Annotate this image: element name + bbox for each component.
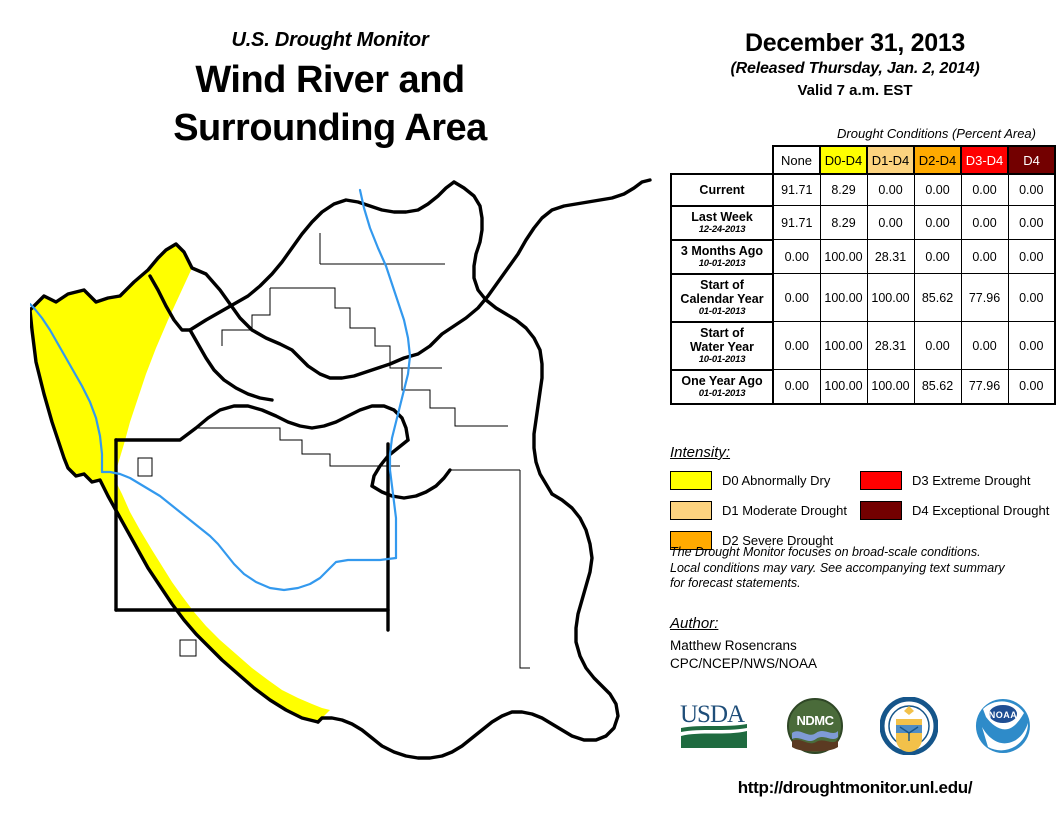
table-cell: 0.00: [867, 206, 914, 240]
table-cell: 100.00: [867, 274, 914, 322]
table-row: Current91.718.290.000.000.000.00: [671, 174, 1055, 206]
table-cell: 100.00: [820, 370, 867, 404]
table-col-header-none: None: [773, 146, 820, 174]
legend-label-d1: D1 Moderate Drought: [722, 503, 847, 518]
right-panel: December 31, 2013 (Released Thursday, Ja…: [660, 0, 1056, 816]
disclaimer-line: for forecast statements.: [670, 576, 1040, 592]
table-row: Last Week12-24-201391.718.290.000.000.00…: [671, 206, 1055, 240]
program-title: U.S. Drought Monitor: [0, 28, 660, 52]
legend-label-d0: D0 Abnormally Dry: [722, 473, 830, 488]
row-label: Start ofWater Year10-01-2013: [671, 322, 773, 370]
table-header: NoneD0-D4D1-D4D2-D4D3-D4D4: [671, 146, 1055, 174]
row-label: Current: [671, 174, 773, 206]
row-label-date: 12-24-2013: [674, 224, 770, 236]
valid-time: Valid 7 a.m. EST: [660, 80, 1050, 101]
legend-item-d1: D1 Moderate Drought: [670, 498, 847, 522]
table-cell: 85.62: [914, 370, 961, 404]
usda-logo: USDA: [678, 698, 750, 759]
svg-text:NOAA: NOAA: [989, 710, 1018, 720]
site-url[interactable]: http://droughtmonitor.unl.edu/: [660, 778, 1050, 798]
table-cell: 0.00: [961, 240, 1008, 274]
map-county-lines: [138, 233, 530, 668]
author-name: Matthew Rosencrans: [670, 637, 817, 655]
legend-swatch-d4: [860, 501, 902, 520]
table-cell: 100.00: [867, 370, 914, 404]
legend-column-right: D3 Extreme DroughtD4 Exceptional Drought: [860, 468, 1049, 528]
legend-item-d0: D0 Abnormally Dry: [670, 468, 847, 492]
row-label-date: 10-01-2013: [674, 354, 770, 366]
table-corner-cell: [671, 146, 773, 174]
table-col-header-d0-d4: D0-D4: [820, 146, 867, 174]
table-body: Current91.718.290.000.000.000.00Last Wee…: [671, 174, 1055, 404]
legend-swatch-d3: [860, 471, 902, 490]
logo-strip: USDA NDMC: [660, 692, 1050, 764]
row-label: 3 Months Ago10-01-2013: [671, 240, 773, 274]
row-label: Last Week12-24-2013: [671, 206, 773, 240]
row-label-date: 01-01-2013: [674, 306, 770, 318]
table-cell: 85.62: [914, 274, 961, 322]
table-cell: 0.00: [1008, 240, 1055, 274]
table-cell: 77.96: [961, 370, 1008, 404]
table-cell: 0.00: [914, 240, 961, 274]
table-header-row: NoneD0-D4D1-D4D2-D4D3-D4D4: [671, 146, 1055, 174]
table-cell: 0.00: [867, 174, 914, 206]
table-cell: 100.00: [820, 322, 867, 370]
table-cell: 0.00: [1008, 174, 1055, 206]
legend-swatch-d0: [670, 471, 712, 490]
legend-label-d4: D4 Exceptional Drought: [912, 503, 1049, 518]
disclaimer-line: Local conditions may vary. See accompany…: [670, 561, 1040, 577]
table-cell: 0.00: [773, 274, 820, 322]
table-cell: 0.00: [1008, 206, 1055, 240]
table-cell: 8.29: [820, 174, 867, 206]
row-label: One Year Ago01-01-2013: [671, 370, 773, 404]
row-label-date: 10-01-2013: [674, 258, 770, 270]
table-cell: 0.00: [1008, 274, 1055, 322]
legend-swatch-d1: [670, 501, 712, 520]
issue-date: December 31, 2013: [660, 28, 1050, 58]
table-cell: 0.00: [773, 240, 820, 274]
release-note: (Released Thursday, Jan. 2, 2014): [660, 58, 1050, 79]
region-title-line1: Wind River and: [0, 56, 660, 104]
table-col-header-d4: D4: [1008, 146, 1055, 174]
map-svg: [30, 178, 660, 768]
disclaimer-line: The Drought Monitor focuses on broad-sca…: [670, 545, 1040, 561]
table-row: 3 Months Ago10-01-20130.00100.0028.310.0…: [671, 240, 1055, 274]
author-heading: Author:: [670, 615, 718, 632]
table-cell: 8.29: [820, 206, 867, 240]
map-outline: [30, 180, 650, 758]
row-label: Start ofCalendar Year01-01-2013: [671, 274, 773, 322]
table-cell: 0.00: [1008, 370, 1055, 404]
table-cell: 0.00: [961, 322, 1008, 370]
table-cell: 0.00: [961, 174, 1008, 206]
table-cell: 91.71: [773, 174, 820, 206]
table-caption: Drought Conditions (Percent Area): [660, 126, 1036, 142]
table-cell: 0.00: [914, 174, 961, 206]
legend-item-d4: D4 Exceptional Drought: [860, 498, 1049, 522]
author-affiliation: CPC/NCEP/NWS/NOAA: [670, 655, 817, 673]
author-block: Matthew Rosencrans CPC/NCEP/NWS/NOAA: [670, 637, 817, 673]
table-row: One Year Ago01-01-20130.00100.00100.0085…: [671, 370, 1055, 404]
ndmc-logo: NDMC: [786, 697, 844, 760]
title-block: U.S. Drought Monitor Wind River and Surr…: [0, 28, 660, 152]
table-cell: 0.00: [773, 370, 820, 404]
table-row: Start ofCalendar Year01-01-20130.00100.0…: [671, 274, 1055, 322]
row-label-date: 01-01-2013: [674, 388, 770, 400]
table-col-header-d3-d4: D3-D4: [961, 146, 1008, 174]
table-cell: 0.00: [914, 322, 961, 370]
drought-map[interactable]: [30, 178, 660, 768]
noaa-logo: NOAA: [974, 697, 1032, 760]
page-title: Wind River and Surrounding Area: [0, 56, 660, 152]
unl-logo: [880, 697, 938, 760]
date-block: December 31, 2013 (Released Thursday, Ja…: [660, 28, 1050, 101]
table-cell: 100.00: [820, 274, 867, 322]
table-cell: 28.31: [867, 322, 914, 370]
table-cell: 28.31: [867, 240, 914, 274]
table-cell: 100.00: [820, 240, 867, 274]
table-cell: 77.96: [961, 274, 1008, 322]
table-cell: 0.00: [773, 322, 820, 370]
region-title-line2: Surrounding Area: [0, 104, 660, 152]
legend-heading: Intensity:: [670, 444, 730, 461]
table-cell: 0.00: [914, 206, 961, 240]
table-cell: 0.00: [961, 206, 1008, 240]
table-cell: 0.00: [1008, 322, 1055, 370]
table-col-header-d2-d4: D2-D4: [914, 146, 961, 174]
legend-label-d3: D3 Extreme Drought: [912, 473, 1031, 488]
table-col-header-d1-d4: D1-D4: [867, 146, 914, 174]
svg-text:USDA: USDA: [680, 701, 745, 728]
drought-conditions-table: NoneD0-D4D1-D4D2-D4D3-D4D4 Current91.718…: [670, 145, 1056, 405]
legend-item-d3: D3 Extreme Drought: [860, 468, 1049, 492]
svg-text:NDMC: NDMC: [797, 713, 835, 728]
disclaimer-text: The Drought Monitor focuses on broad-sca…: [670, 545, 1040, 592]
table-cell: 91.71: [773, 206, 820, 240]
table-row: Start ofWater Year10-01-20130.00100.0028…: [671, 322, 1055, 370]
